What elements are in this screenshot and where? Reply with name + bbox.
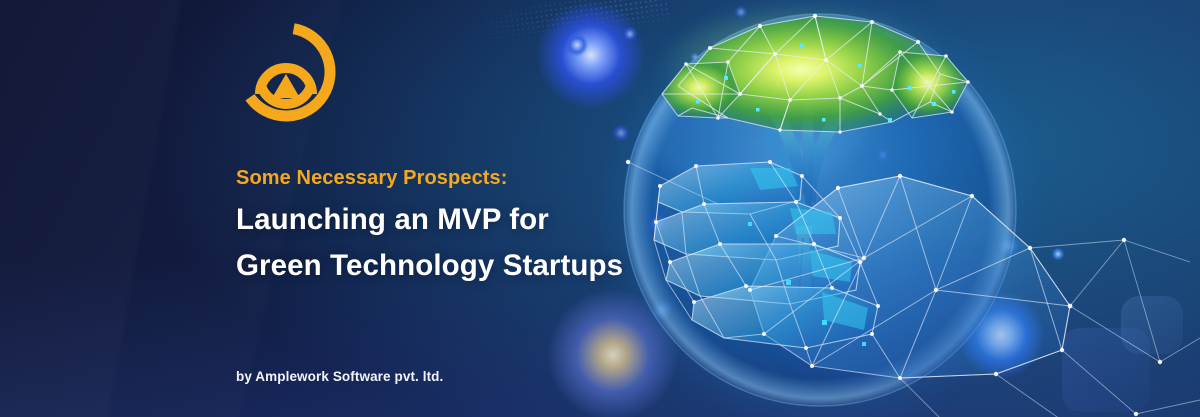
- canopy-sparkles: [696, 44, 956, 122]
- canopy-glow: [665, 8, 945, 132]
- banner-content: Some Necessary Prospects: Launching an M…: [236, 0, 656, 417]
- hero-banner: Some Necessary Prospects: Launching an M…: [0, 0, 1200, 417]
- brand-logo[interactable]: [236, 22, 336, 122]
- sphere-inner-content: [630, 30, 1030, 390]
- sphere-outline: [624, 14, 1016, 406]
- sphere-rim-light: [624, 14, 1016, 406]
- wireframe-hand: [626, 160, 1200, 417]
- canopy-nodes: [684, 14, 970, 134]
- bokeh-orb-icon: [690, 52, 700, 62]
- bokeh-orb-icon: [735, 6, 747, 18]
- glass-square-decoration: [1121, 296, 1183, 354]
- glass-square-decoration: [1062, 328, 1150, 412]
- headline-line-1: Launching an MVP for: [236, 197, 666, 243]
- bokeh-orb-icon: [876, 28, 894, 46]
- kicker-text: Some Necessary Prospects:: [236, 167, 508, 190]
- tree-trunk: [760, 102, 848, 296]
- sphere-halo: [614, 4, 1026, 416]
- headline-line-2: Green Technology Startups: [236, 243, 666, 289]
- amplework-circular-logo-icon: [236, 22, 336, 122]
- bokeh-orb-icon: [958, 292, 1044, 378]
- hero-illustration: [600, 0, 1200, 417]
- page-title: Launching an MVP for Green Technology St…: [236, 197, 666, 289]
- bokeh-orb-icon: [1052, 248, 1064, 260]
- translucent-sphere: [624, 14, 1016, 406]
- network-constellation: [628, 162, 1200, 417]
- low-poly-tree-canopy: [662, 14, 970, 134]
- byline-text: by Amplework Software pvt. ltd.: [236, 369, 443, 384]
- bokeh-orb-icon: [998, 236, 1018, 256]
- bokeh-orb-icon: [876, 148, 890, 162]
